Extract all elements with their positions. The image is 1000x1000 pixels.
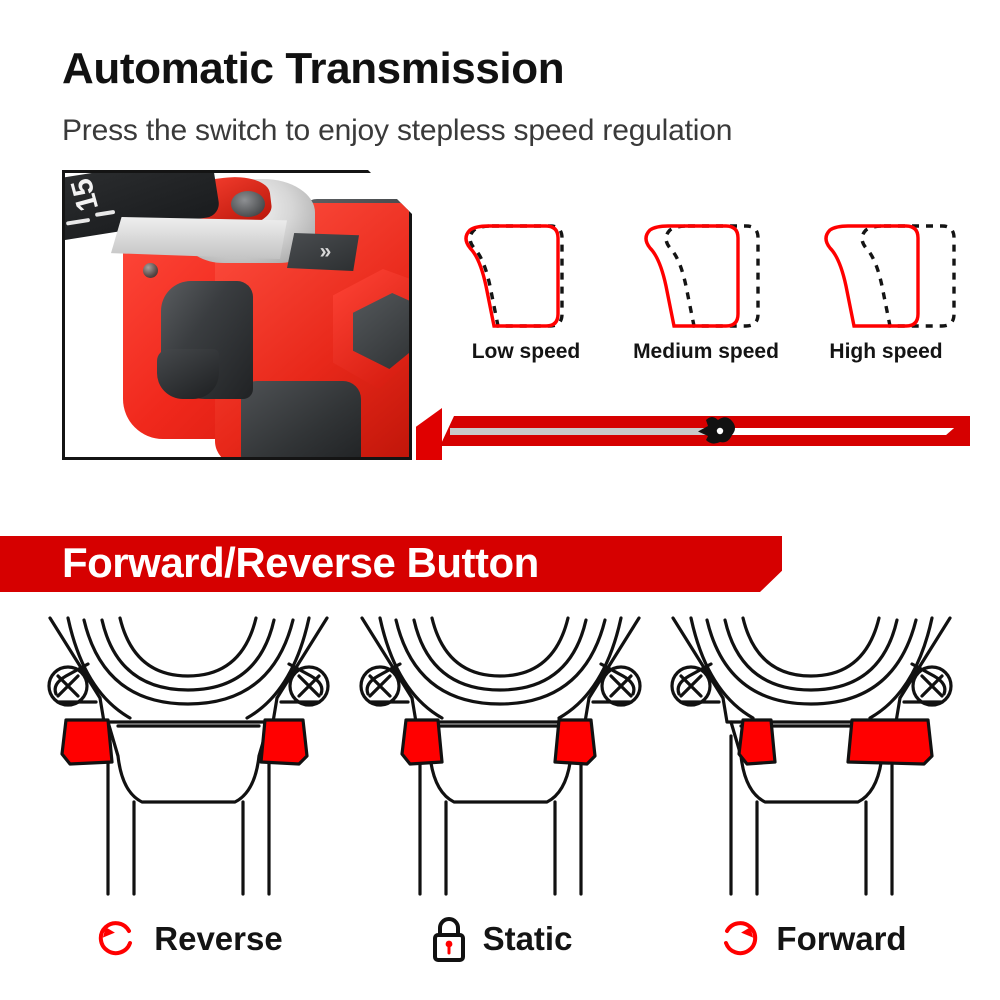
drill-linedraw-reverse	[22, 606, 355, 906]
speed-mode-label: Low speed	[436, 340, 616, 364]
speed-mode-label: Medium speed	[616, 340, 796, 364]
screw-cross-right	[611, 676, 631, 696]
collar-arc-inner	[120, 618, 256, 676]
page-title: Automatic Transmission	[62, 44, 564, 94]
speed-mode-medium: Medium speed	[616, 212, 796, 364]
direction-item-static: Static	[334, 606, 667, 996]
trigger-outline-svg	[436, 212, 616, 340]
torque-collar-number: 15	[65, 176, 106, 215]
slider-track-empty	[712, 428, 954, 435]
collar-arc-mid	[725, 620, 897, 690]
screw-cross-left	[681, 676, 701, 696]
chuck-plate	[111, 217, 287, 259]
trigger-outline-svg	[616, 212, 796, 340]
collar-arc-mid	[102, 620, 274, 690]
photo-content: 15 »	[65, 173, 409, 457]
button-tab-right	[555, 720, 595, 764]
mid-band	[100, 698, 277, 722]
drill-outline-svg	[22, 606, 355, 906]
trigger-diagram-low	[436, 212, 616, 340]
speed-slider[interactable]	[440, 408, 970, 454]
trigger-released-dashed	[666, 226, 758, 326]
direction-label: Reverse	[154, 920, 282, 958]
drill-outline-svg	[645, 606, 978, 906]
direction-item-reverse: Reverse	[22, 606, 355, 996]
speed-mode-group: Low speed Medium speed High speed	[436, 212, 976, 392]
collar-arc-inner	[743, 618, 879, 676]
drill-trigger-lower	[157, 349, 219, 399]
direction-label-row: Forward	[645, 904, 978, 974]
trigger-pressed-solid	[466, 226, 558, 326]
collar-tick-mark	[66, 218, 90, 226]
speed-mode-label: High speed	[796, 340, 976, 364]
button-tab-left	[739, 720, 775, 764]
collar-arc-mid	[414, 620, 586, 690]
direction-label-row: Reverse	[22, 904, 355, 974]
speed-slider-svg	[440, 408, 970, 454]
trigger-outline-svg	[796, 212, 976, 340]
drill-linedraw-static	[334, 606, 667, 906]
screw-cross-right	[299, 676, 319, 696]
infographic-page: Automatic Transmission Press the switch …	[0, 0, 1000, 1000]
tapered-body	[108, 722, 269, 802]
trigger-diagram-high	[796, 212, 976, 340]
button-tab-left	[62, 720, 112, 764]
trigger-pressed-solid	[826, 226, 918, 326]
direction-diagram-row: Reverse	[0, 606, 1000, 996]
speed-selector-glyph: »	[295, 239, 353, 265]
button-tab-right	[848, 720, 932, 764]
drill-linedraw-forward	[645, 606, 978, 906]
speed-mode-high: High speed	[796, 212, 976, 364]
direction-label: Static	[483, 920, 573, 958]
rotate-cw-icon	[716, 916, 762, 962]
direction-item-forward: Forward	[645, 606, 978, 996]
direction-label-row: Static	[334, 904, 667, 974]
collar-arc-inner	[432, 618, 568, 676]
direction-label: Forward	[776, 920, 906, 958]
screw-cross-left	[58, 676, 78, 696]
banner-title: Forward/Reverse Button	[62, 536, 539, 592]
trigger-released-dashed	[862, 226, 954, 326]
button-tab-right	[261, 720, 307, 764]
drill-screw-hole	[143, 263, 158, 278]
trigger-diagram-medium	[616, 212, 796, 340]
collar-tick-mark	[95, 210, 115, 217]
screw-cross-left	[370, 676, 390, 696]
photo-accent-triangle	[416, 408, 442, 460]
drill-outline-svg	[334, 606, 667, 906]
drill-trigger-photo: 15 »	[62, 170, 412, 460]
chuck-bit-hole	[231, 191, 265, 217]
drill-grip	[241, 381, 361, 457]
rotate-ccw-icon	[94, 916, 140, 962]
button-tab-left	[402, 720, 442, 764]
screw-cross-right	[922, 676, 942, 696]
lock-icon	[429, 914, 469, 964]
speed-mode-low: Low speed	[436, 212, 616, 364]
page-subtitle: Press the switch to enjoy stepless speed…	[62, 114, 732, 148]
